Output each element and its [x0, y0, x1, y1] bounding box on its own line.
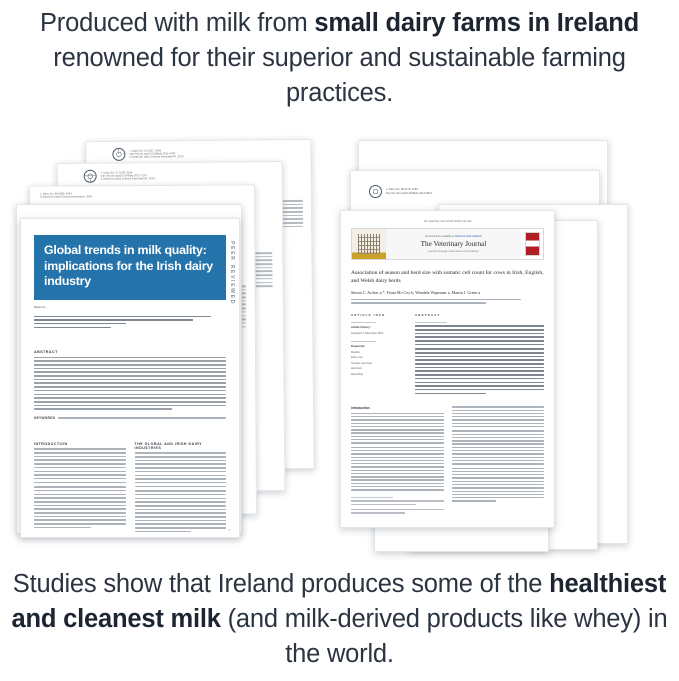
keywords-label: KEYWORDS	[34, 416, 55, 420]
infographic-page: Produced with milk from small dairy farm…	[0, 0, 679, 681]
journal-globe-icon	[369, 185, 382, 198]
journal-masthead: Contents lists available at SciVerse Sci…	[351, 228, 544, 260]
body-column-left: Introduction	[351, 406, 444, 515]
journal-doi: http://dx.doi.org/10.3168/jds.2014-8931	[386, 192, 432, 195]
introduction-heading: INTRODUCTION	[34, 442, 126, 446]
keyword-0: Mastitis	[351, 351, 407, 354]
page-number: 1	[228, 528, 230, 532]
paper-body-columns: Introduction	[351, 406, 544, 515]
paper-abstract: ABSTRACT	[34, 350, 226, 410]
journal-header-text: J. Dairy Sci. 97:2130–2144 http://dx.doi…	[101, 171, 156, 181]
journal-header: J. Dairy Sci. 98:3776–3790 http://dx.doi…	[351, 171, 599, 198]
document-stack-right: A study of the somatic cell count (SCC) …	[338, 140, 679, 560]
journal-header: J. Dairy Sci. 95:1327–1348 http://dx.doi…	[86, 140, 310, 161]
column-global-irish-dairy: THE GLOBAL AND IRISH DAIRY INDUSTRIES	[135, 442, 227, 535]
headline-top-part1: Produced with milk from	[40, 9, 314, 37]
journal-globe-icon	[112, 148, 125, 161]
article-info-and-abstract: ARTICLE INFO Article history: Accepted 7…	[351, 313, 544, 397]
column-introduction: INTRODUCTION	[34, 442, 126, 535]
paper-affiliations	[351, 299, 544, 304]
headline-bottom-part2: (and milk-derived products like whey) in…	[221, 605, 668, 668]
article-info-panel: ARTICLE INFO Article history: Accepted 7…	[351, 313, 407, 397]
headline-top-part2: renowned for their superior and sustaina…	[53, 44, 625, 107]
journal-globe-icon	[84, 170, 97, 183]
paper-keywords: KEYWORDS	[34, 416, 226, 420]
journal-copyright: © American Dairy Science Association®, 2…	[101, 177, 156, 181]
paper-body-columns: INTRODUCTION THE GLOBAL AND IRISH DAIRY …	[34, 442, 226, 535]
elsevier-logo-icon	[352, 229, 386, 259]
abstract-heading: ABSTRACT	[415, 313, 544, 317]
body-column-right	[452, 406, 545, 515]
article-history-label: Article history:	[351, 325, 407, 329]
footnote-block	[351, 500, 444, 513]
paper-author: Marie Sn	[34, 305, 226, 309]
introduction-heading: Introduction	[351, 406, 444, 410]
headline-top-bold: small dairy farms in Ireland	[314, 9, 639, 37]
journal-header-text: J. Dairy Sci. 89:4083–4093 © American Da…	[40, 192, 93, 199]
article-info-heading: ARTICLE INFO	[351, 313, 407, 317]
global-industries-heading: THE GLOBAL AND IRISH DAIRY INDUSTRIES	[135, 442, 227, 450]
journal-homepage-url[interactable]: journal homepage: www.elsevier.com/locat…	[428, 250, 478, 253]
journal-copyright: © American Dairy Science Association, 20…	[40, 196, 93, 200]
availability-text: Contents lists available at	[425, 235, 455, 238]
journal-copyright: © American Dairy Science Association®, 2…	[129, 155, 184, 159]
journal-header-text: J. Dairy Sci. 98:3776–3790 http://dx.doi…	[386, 188, 432, 195]
headline-bottom-part1: Studies show that Ireland produces some …	[13, 570, 549, 598]
keyword-1: Dairy cow	[351, 356, 407, 359]
masthead-center: Contents lists available at SciVerse Sci…	[386, 229, 521, 259]
journal-header: J. Dairy Sci. 97:2130–2144 http://dx.doi…	[58, 162, 282, 183]
headline-top: Produced with milk from small dairy farm…	[0, 6, 679, 111]
keyword-3: Herd size	[351, 367, 407, 370]
keyword-4: Recording	[351, 373, 407, 376]
keyword-2: Somatic cell count	[351, 362, 407, 365]
journal-cover-thumbnail	[521, 229, 543, 259]
paper-global-trends-milk-quality[interactable]: PEER REVIEWED Global trends in milk qual…	[20, 218, 240, 538]
paper-title: Association of season and herd size with…	[351, 269, 544, 285]
journal-header: J. Dairy Sci. 89:4083–4093 © American Da…	[30, 185, 254, 199]
paper-veterinary-journal[interactable]: The Veterinary Journal 196 (2013) 216–32…	[340, 210, 555, 528]
article-history-value: Accepted 7 November 2012	[351, 332, 407, 335]
journal-name: The Veterinary Journal	[421, 240, 487, 248]
sciencedirect-link[interactable]: SciVerse ScienceDirect	[455, 235, 482, 238]
document-stack-left: J. Dairy Sci. 95:1327–1348 http://dx.doi…	[2, 140, 338, 560]
journal-header-text: J. Dairy Sci. 95:1327–1348 http://dx.doi…	[129, 149, 184, 159]
paper-title: Global trends in milk quality: implicati…	[34, 235, 226, 300]
abstract-panel: ABSTRACT	[415, 313, 544, 397]
keywords-label: Keywords:	[351, 344, 407, 348]
headline-bottom: Studies show that Ireland produces some …	[0, 567, 679, 672]
availability-line: Contents lists available at SciVerse Sci…	[425, 235, 482, 238]
running-head: The Veterinary Journal 196 (2013) 216–32…	[341, 220, 554, 223]
paper-affiliation	[34, 316, 226, 329]
paper-authors: Simon C. Archer a,*, Fiona Mc Coy b, Wen…	[351, 290, 544, 295]
peer-reviewed-label: PEER REVIEWED	[229, 241, 235, 305]
abstract-heading: ABSTRACT	[34, 350, 226, 354]
